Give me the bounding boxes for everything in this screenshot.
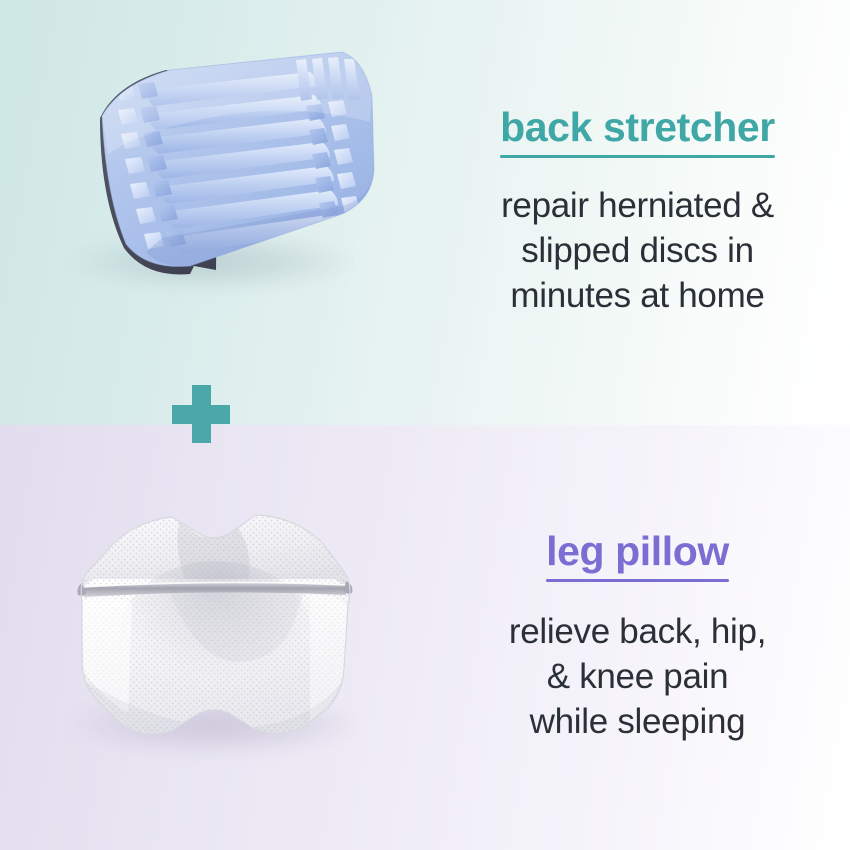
product-bundle-promo: back stretcher repair herniated & slippe… xyxy=(0,0,850,850)
leg-pillow-subcopy: relieve back, hip, & knee pain while sle… xyxy=(509,610,766,744)
plus-icon-vertical-bar xyxy=(192,385,211,443)
leg-pillow-subcopy-line-1: relieve back, hip, xyxy=(509,610,766,655)
back-stretcher-illustration xyxy=(42,38,382,288)
back-stretcher-heading: back stretcher xyxy=(500,106,775,158)
back-stretcher-subcopy: repair herniated & slipped discs in minu… xyxy=(501,184,774,318)
leg-pillow-subcopy-line-3: while sleeping xyxy=(509,700,766,745)
leg-pillow-section: leg pillow relieve back, hip, & knee pai… xyxy=(0,425,850,850)
leg-pillow-product-photo xyxy=(48,483,378,773)
back-stretcher-text-column: back stretcher repair herniated & slippe… xyxy=(425,0,850,425)
leg-pillow-subcopy-line-2: & knee pain xyxy=(509,655,766,700)
leg-pillow-heading: leg pillow xyxy=(546,530,729,582)
leg-pillow-image-column xyxy=(0,425,425,850)
back-stretcher-product-photo xyxy=(42,38,382,298)
plus-icon xyxy=(172,385,230,443)
leg-pillow-illustration xyxy=(48,483,378,763)
back-stretcher-image-column xyxy=(0,0,425,425)
back-stretcher-subcopy-line-1: repair herniated & xyxy=(501,184,774,229)
leg-pillow-text-column: leg pillow relieve back, hip, & knee pai… xyxy=(425,425,850,850)
back-stretcher-subcopy-line-3: minutes at home xyxy=(501,274,774,319)
back-stretcher-subcopy-line-2: slipped discs in xyxy=(501,229,774,274)
back-stretcher-section: back stretcher repair herniated & slippe… xyxy=(0,0,850,425)
